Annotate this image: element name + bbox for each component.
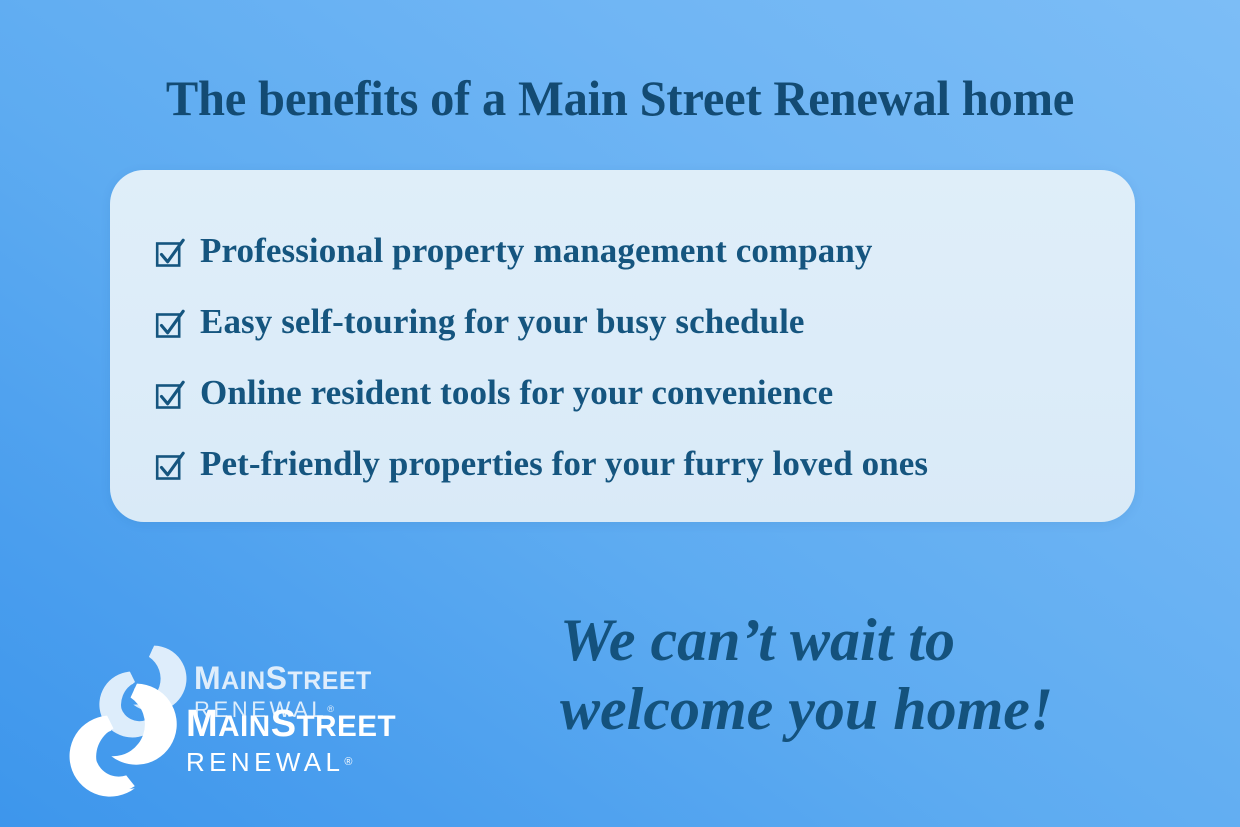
benefit-label: Pet-friendly properties for your furry l… [200,445,928,484]
brand-name: MAINSTREET [186,705,396,743]
benefit-list-item: Easy self-touring for your busy schedule [148,287,1095,358]
marketing-poster: The benefits of a Main Street Renewal ho… [0,0,1240,827]
benefits-card: Professional property management company… [110,170,1135,522]
benefit-list-item: Pet-friendly properties for your furry l… [148,429,1095,500]
benefit-label: Easy self-touring for your busy schedule [200,303,805,342]
ballot-box-with-check-icon [148,449,192,481]
ballot-box-with-check-icon [148,378,192,410]
tagline-line-2: welcome you home! [560,677,1180,742]
page-title: The benefits of a Main Street Renewal ho… [19,72,1222,125]
benefit-list-item: Online resident tools for your convenien… [148,358,1095,429]
tagline: We can’t wait to welcome you home! [560,608,1180,742]
ballot-box-with-check-icon [148,307,192,339]
brand-logo-wordmark: MAINSTREET RENEWAL® [186,705,396,775]
tagline-line-1: We can’t wait to [560,608,1180,673]
benefit-label: Professional property management company [200,232,873,271]
brand-logo-main-copy: MAINSTREET RENEWAL® [58,673,396,806]
benefit-label: Online resident tools for your convenien… [200,374,833,413]
brand-logo: MAINSTREET RENEWAL® MAINSTREET RENEWAL® [40,625,510,800]
benefit-list-item: Professional property management company [148,216,1095,287]
brand-subtitle: RENEWAL® [186,749,396,775]
ballot-box-with-check-icon [148,236,192,268]
interlocking-rings-logo-mark [58,673,186,806]
